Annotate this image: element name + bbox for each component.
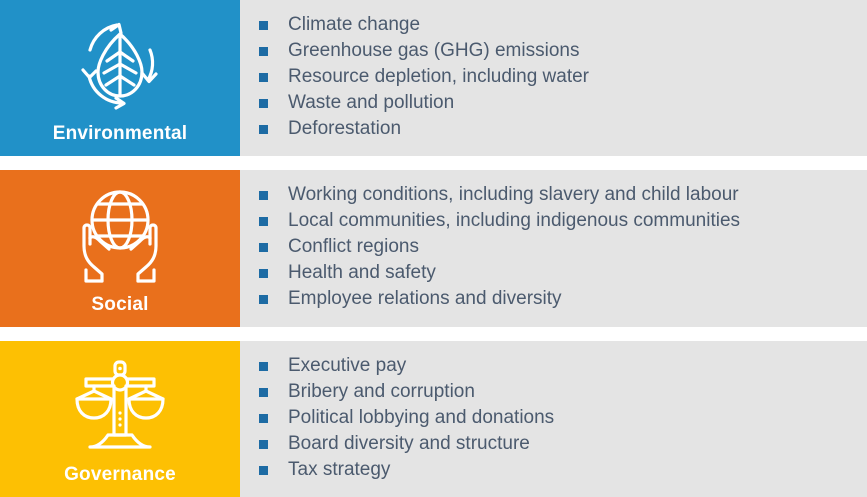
bullet-square-icon <box>259 414 268 423</box>
bullet-square-icon <box>259 125 268 134</box>
category-row-social: Social Working conditions, including sla… <box>0 170 867 326</box>
leaf-recycle-icon <box>0 0 240 124</box>
bullet-square-icon <box>259 269 268 278</box>
row-divider <box>0 327 867 341</box>
list-item: Board diversity and structure <box>250 433 867 455</box>
category-row-governance: Governance Executive pay Bribery and cor… <box>0 341 867 497</box>
bullet-square-icon <box>259 191 268 200</box>
list-item: Local communities, including indigenous … <box>250 210 867 232</box>
list-item: Conflict regions <box>250 236 867 258</box>
list-item: Greenhouse gas (GHG) emissions <box>250 40 867 62</box>
category-panel-social[interactable]: Social <box>0 170 240 326</box>
topic-list-social: Working conditions, including slavery an… <box>240 170 867 326</box>
list-item: Working conditions, including slavery an… <box>250 184 867 206</box>
bullet-square-icon <box>259 388 268 397</box>
bullet-square-icon <box>259 217 268 226</box>
list-item: Waste and pollution <box>250 92 867 114</box>
category-panel-governance[interactable]: Governance <box>0 341 240 497</box>
list-item: Deforestation <box>250 118 867 140</box>
category-label-environmental: Environmental <box>53 124 188 156</box>
category-label-governance: Governance <box>64 465 176 497</box>
list-item: Executive pay <box>250 355 867 377</box>
list-item: Bribery and corruption <box>250 381 867 403</box>
balance-scales-icon <box>0 341 240 465</box>
category-panel-environmental[interactable]: Environmental <box>0 0 240 156</box>
bullet-square-icon <box>259 73 268 82</box>
category-label-social: Social <box>91 295 148 327</box>
list-item: Climate change <box>250 14 867 36</box>
bullet-square-icon <box>259 99 268 108</box>
topic-list-environmental: Climate change Greenhouse gas (GHG) emis… <box>240 0 867 156</box>
bullet-square-icon <box>259 47 268 56</box>
category-row-environmental: Environmental Climate change Greenhouse … <box>0 0 867 156</box>
bullet-square-icon <box>259 440 268 449</box>
list-item: Resource depletion, including water <box>250 66 867 88</box>
list-item: Employee relations and diversity <box>250 288 867 310</box>
bullet-square-icon <box>259 466 268 475</box>
row-divider <box>0 156 867 170</box>
list-item: Health and safety <box>250 262 867 284</box>
bullet-square-icon <box>259 243 268 252</box>
list-item: Political lobbying and donations <box>250 407 867 429</box>
globe-in-hands-icon <box>0 170 240 294</box>
esg-diagram: Environmental Climate change Greenhouse … <box>0 0 867 497</box>
bullet-square-icon <box>259 362 268 371</box>
list-item: Tax strategy <box>250 459 867 481</box>
topic-list-governance: Executive pay Bribery and corruption Pol… <box>240 341 867 497</box>
bullet-square-icon <box>259 21 268 30</box>
bullet-square-icon <box>259 295 268 304</box>
